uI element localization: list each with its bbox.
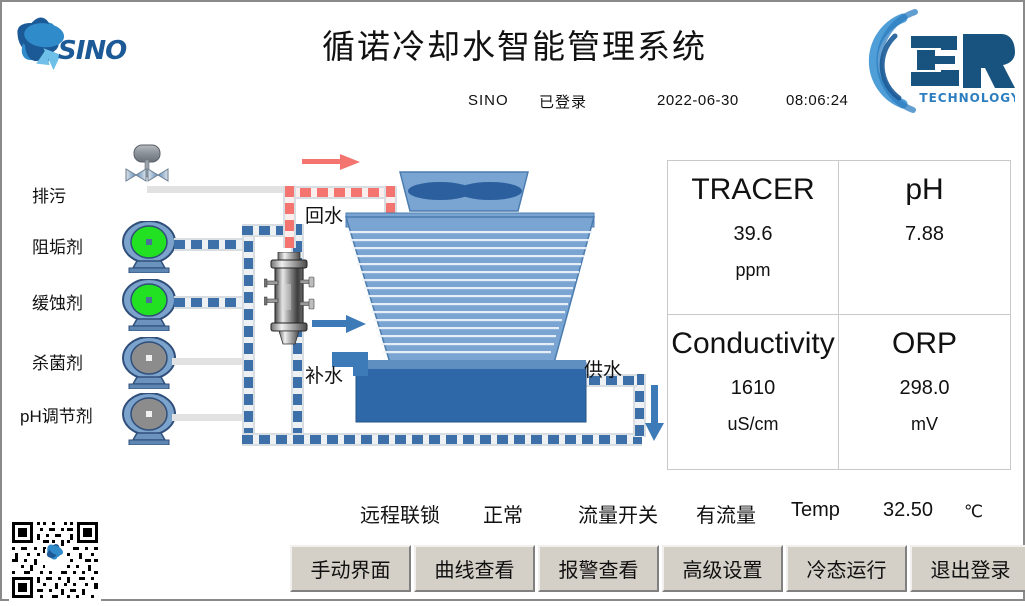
device-label-ph-adjuster: pH调节剂 [20, 402, 93, 427]
measurement-orp: ORP 298.0 mV [839, 315, 1010, 469]
system-date: 2022-06-30 [657, 92, 739, 109]
button-advanced-setup[interactable]: 高级设置 [662, 545, 783, 592]
label-return-water: 回水 [305, 201, 343, 228]
measurement-unit: uS/cm [727, 414, 778, 435]
cooling-tower [332, 167, 622, 427]
measurement-ph: pH 7.88 [839, 161, 1010, 315]
status-strip: 远程联锁 正常 流量开关 有流量 Temp 32.50 ℃ [2, 499, 1025, 527]
system-time: 08:06:24 [786, 92, 848, 109]
measurement-conductivity: Conductivity 1610 uS/cm [668, 315, 839, 469]
measurement-name: ORP [892, 325, 957, 363]
measurement-panel: TRACER 39.6 ppm pH 7.88 Conductivity 161… [667, 160, 1011, 470]
measurement-unit: mV [911, 414, 938, 435]
flowline-bottom-return [242, 433, 642, 446]
button-alarm-view[interactable]: 报警查看 [538, 545, 659, 592]
qr-code[interactable] [9, 519, 101, 601]
bottom-button-bar: 手动界面 曲线查看 报警查看 高级设置 冷态运行 退出登录 [290, 545, 1025, 592]
pump-biocide[interactable] [121, 337, 177, 389]
measurement-name: pH [905, 171, 943, 209]
pump-ph-adjuster[interactable] [121, 393, 177, 445]
pipe-blowdown [147, 186, 287, 193]
measurement-value: 39.6 [734, 223, 773, 246]
measurement-value: 1610 [731, 377, 776, 400]
measurement-name: Conductivity [671, 325, 834, 363]
measurement-value: 7.88 [905, 223, 944, 246]
status-remote-interlock-value: 正常 [483, 499, 523, 528]
3r-technology-logo: TECHNOLOGY [865, 6, 1015, 116]
device-label-blowdown: 排污 [32, 182, 66, 207]
tower-basin [356, 363, 586, 422]
tower-body [346, 217, 594, 363]
button-manual-screen[interactable]: 手动界面 [290, 545, 411, 592]
label-supply-water: 供水 [584, 355, 622, 382]
button-curve-view[interactable]: 曲线查看 [414, 545, 535, 592]
fan-blade-right [458, 182, 522, 200]
water-quality-analyzer[interactable] [264, 252, 318, 348]
measurement-value: 298.0 [899, 377, 949, 400]
pump-antiscalant[interactable] [121, 221, 177, 273]
label-makeup-water: 补水 [305, 361, 343, 388]
status-flow-switch-value: 有流量 [696, 499, 756, 528]
measurement-unit: ppm [735, 260, 770, 281]
status-temp-value: 32.50 [883, 499, 933, 522]
arrow-supply-water [644, 385, 666, 443]
measurement-name: TRACER [691, 171, 814, 209]
current-user: SINO [468, 92, 509, 109]
login-status: 已登录 [539, 91, 587, 112]
pump-corrosion-inhibitor[interactable] [121, 279, 177, 331]
flowline-antiscalant [174, 238, 246, 251]
device-label-biocide: 杀菌剂 [32, 349, 83, 374]
flowline-corrosion-inhibitor [174, 296, 246, 309]
pipe-ph-adjuster [172, 414, 247, 421]
status-flow-switch-label: 流量开关 [578, 499, 658, 528]
device-label-corrosion-inhibitor: 缓蚀剂 [32, 289, 83, 314]
status-temp-label: Temp [791, 499, 840, 522]
status-temp-unit: ℃ [964, 502, 983, 522]
button-logout[interactable]: 退出登录 [910, 545, 1025, 592]
measurement-tracer: TRACER 39.6 ppm [668, 161, 839, 315]
scada-screen: SINO 循诺冷却水智能管理系统 SINO 已登录 2022-06-30 08:… [0, 0, 1025, 601]
flowline-riser [242, 224, 255, 438]
pipe-biocide [172, 358, 247, 365]
status-remote-interlock-label: 远程联锁 [360, 499, 440, 528]
flowline-return-left [283, 186, 296, 248]
button-cold-run[interactable]: 冷态运行 [786, 545, 907, 592]
device-label-antiscalant: 阻垢剂 [32, 233, 83, 258]
3r-sub-wordmark: TECHNOLOGY [919, 91, 1015, 105]
